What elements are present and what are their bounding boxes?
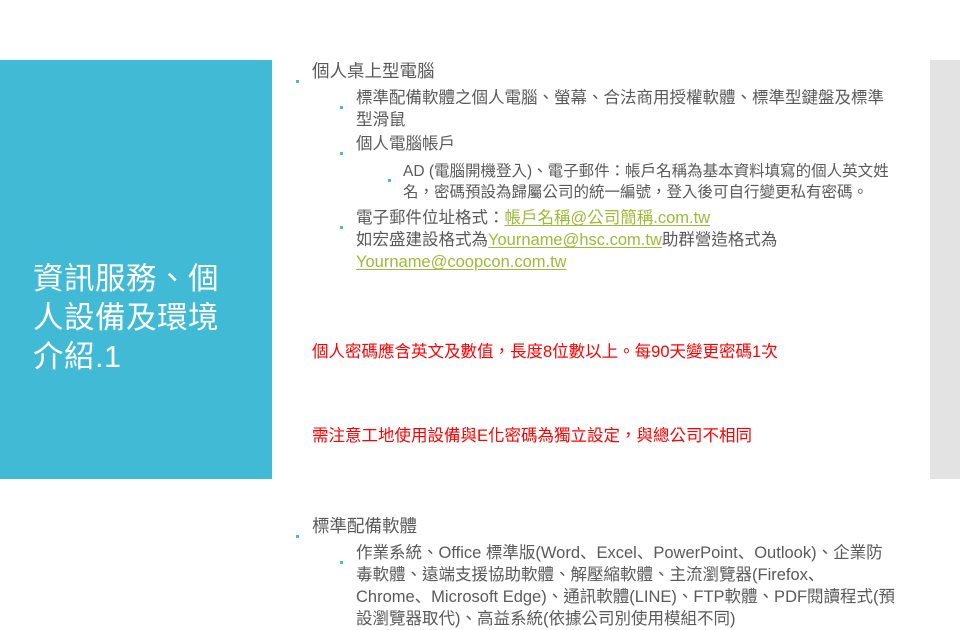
content-body: 個人桌上型電腦 標準配備軟體之個人電腦、螢幕、合法商用授權軟體、標準型鍵盤及標準…: [296, 60, 896, 630]
list-item-desktop-heading: 個人桌上型電腦: [296, 60, 896, 87]
bullet-square-icon: [340, 542, 356, 568]
title-panel: 資訊服務、個 人設備及環境 介紹.1: [0, 60, 272, 479]
slide-canvas: 資訊服務、個 人設備及環境 介紹.1 個人桌上型電腦 標準配備軟體之個人電腦、螢…: [0, 0, 960, 540]
list-item-email-format: 電子郵件位址格式：帳戶名稱@公司簡稱.com.tw 如宏盛建設格式為Yourna…: [340, 207, 896, 273]
password-policy-line-1: 個人密碼應含英文及數值，長度8位數以上。每90天變更密碼1次: [312, 338, 896, 366]
password-policy-warning: 個人密碼應含英文及數值，長度8位數以上。每90天變更密碼1次 需注意工地使用設備…: [312, 282, 896, 506]
list-item-software-detail: 作業系統、Office 標準版(Word、Excel、PowerPoint、Ou…: [340, 542, 896, 630]
software-heading-label: 標準配備軟體: [312, 515, 896, 538]
email-format-label: 電子郵件位址格式：: [356, 209, 505, 227]
bullet-square-icon: [340, 207, 356, 233]
list-item-pc-account: 個人電腦帳戶: [340, 133, 896, 159]
bullet-square-icon: [296, 60, 312, 87]
right-edge-strip: [930, 60, 960, 479]
page-title: 資訊服務、個 人設備及環境 介紹.1: [33, 260, 258, 377]
email-example-link-hsc[interactable]: Yourname@hsc.com.tw: [488, 231, 662, 249]
bullet-square-icon: [388, 161, 403, 186]
software-detail-label: 作業系統、Office 標準版(Word、Excel、PowerPoint、Ou…: [356, 542, 896, 630]
pc-account-label: 個人電腦帳戶: [356, 133, 896, 155]
standard-hardware-label: 標準配備軟體之個人電腦、螢幕、合法商用授權軟體、標準型鍵盤及標準型滑鼠: [356, 87, 896, 131]
bullet-square-icon: [340, 133, 356, 159]
bullet-square-icon: [296, 515, 312, 542]
password-policy-line-2: 需注意工地使用設備與E化密碼為獨立設定，與總公司不相同: [312, 422, 896, 450]
bullet-square-icon: [340, 87, 356, 113]
email-example-prefix: 如宏盛建設格式為: [356, 231, 488, 249]
email-pattern-link[interactable]: 帳戶名稱@公司簡稱.com.tw: [505, 209, 711, 227]
list-item-software-heading: 標準配備軟體: [296, 515, 896, 542]
desktop-heading-label: 個人桌上型電腦: [312, 60, 896, 83]
email-format-block: 電子郵件位址格式：帳戶名稱@公司簡稱.com.tw 如宏盛建設格式為Yourna…: [356, 207, 896, 273]
list-item-ad-account-detail: AD (電腦開機登入)、電子郵件：帳戶名稱為基本資料填寫的個人英文姓名，密碼預設…: [388, 161, 896, 203]
email-example-link-coopcon[interactable]: Yourname@coopcon.com.tw: [356, 253, 567, 271]
ad-account-detail-label: AD (電腦開機登入)、電子郵件：帳戶名稱為基本資料填寫的個人英文姓名，密碼預設…: [403, 161, 896, 203]
list-item-standard-hardware: 標準配備軟體之個人電腦、螢幕、合法商用授權軟體、標準型鍵盤及標準型滑鼠: [340, 87, 896, 131]
email-example-middle: 助群營造格式為: [662, 231, 778, 249]
